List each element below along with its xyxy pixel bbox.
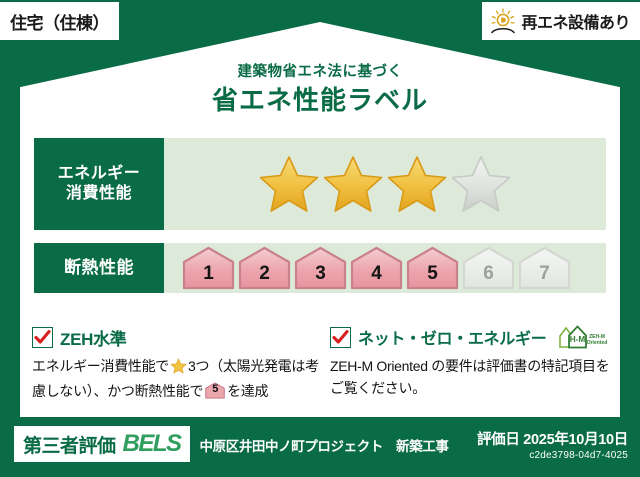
grade-number: 5 bbox=[427, 263, 438, 290]
insulation-grade-3: 3 bbox=[294, 246, 347, 290]
insulation-label-text: 断熱性能 bbox=[64, 257, 134, 279]
insulation-grade-7: 7 bbox=[518, 246, 571, 290]
grade-number: 2 bbox=[259, 263, 270, 290]
star-filled-3 bbox=[386, 154, 448, 214]
star-empty-4 bbox=[450, 154, 512, 214]
insulation-performance-row: 断熱性能 1 2 3 4 5 bbox=[34, 243, 606, 293]
renewable-energy-label: 再エネ設備あり bbox=[521, 9, 630, 33]
star-filled-1 bbox=[258, 154, 320, 214]
inline-house-number: 5 bbox=[205, 382, 225, 399]
grade-number: 6 bbox=[483, 263, 494, 290]
inline-star-icon bbox=[170, 361, 187, 377]
bels-logo-text: BELS bbox=[123, 430, 181, 458]
evaluation-info: 評価日 2025年10月10日 c2de3798-04d7-4025 bbox=[477, 428, 628, 461]
energy-label-line2: 消費性能 bbox=[66, 184, 132, 204]
bels-japanese-label: 第三者評価 bbox=[23, 431, 116, 458]
inline-house-badge-icon: 5 bbox=[205, 382, 225, 399]
zeh-standard-description: エネルギー消費性能で3つ（太陽光発電は考慮しない）、かつ断熱性能で5を達成 bbox=[32, 356, 332, 402]
zeh-standard-checkbox[interactable] bbox=[32, 327, 53, 348]
zeh-desc-part3: を達成 bbox=[227, 383, 268, 399]
net-zero-energy-checkbox[interactable] bbox=[330, 327, 351, 348]
insulation-grade-2: 2 bbox=[238, 246, 291, 290]
zeh-standard-title: ZEH水準 bbox=[60, 325, 127, 350]
net-zero-energy-header: ネット・ゼロ・エネルギー H-M ZEH-M Oriented bbox=[330, 325, 622, 349]
energy-label-line1: エネルギー bbox=[58, 164, 141, 184]
net-zero-energy-description: ZEH-M Oriented の要件は評価書の特記項目をご覧ください。 bbox=[330, 356, 622, 399]
building-type-badge: 住宅（住棟） bbox=[0, 2, 119, 40]
building-type-label: 住宅（住棟） bbox=[10, 9, 109, 34]
project-name: 中原区井田中ノ町プロジェクト 新築工事 bbox=[200, 435, 449, 455]
grade-number: 3 bbox=[315, 263, 326, 290]
zeh-m-oriented-logo-icon: H-M ZEH-M Oriented bbox=[556, 323, 612, 351]
zeh-desc-part1: エネルギー消費性能で bbox=[32, 358, 169, 374]
insulation-grade-4: 4 bbox=[350, 246, 403, 290]
energy-stars-container bbox=[164, 138, 606, 230]
insulation-grade-5: 5 bbox=[406, 246, 459, 290]
insulation-performance-label: 断熱性能 bbox=[34, 243, 164, 293]
svg-text:H-M: H-M bbox=[570, 335, 586, 344]
footer: 第三者評価 BELS 中原区井田中ノ町プロジェクト 新築工事 評価日 2025年… bbox=[0, 423, 640, 477]
zeh-standard-header: ZEH水準 bbox=[32, 325, 332, 349]
page-title: 省エネ性能ラベル bbox=[0, 80, 640, 117]
insulation-grade-6: 6 bbox=[462, 246, 515, 290]
grade-number: 4 bbox=[371, 263, 382, 290]
energy-performance-row: エネルギー 消費性能 bbox=[34, 138, 606, 230]
grade-number: 7 bbox=[539, 263, 550, 290]
grade-number: 1 bbox=[203, 263, 214, 290]
document-id: c2de3798-04d7-4025 bbox=[477, 450, 628, 461]
energy-performance-label: エネルギー 消費性能 bbox=[34, 138, 164, 230]
label-board: 住宅（住棟） 再エネ設備あり 建築物省エネ法に基づく 省エネ性能 bbox=[0, 0, 640, 477]
net-zero-energy-title: ネット・ゼロ・エネルギー bbox=[358, 325, 546, 349]
renewable-energy-badge: 再エネ設備あり bbox=[482, 2, 640, 40]
svg-text:Oriented: Oriented bbox=[587, 340, 608, 346]
net-zero-energy-section: ネット・ゼロ・エネルギー H-M ZEH-M Oriented ZEH-M Or… bbox=[330, 325, 622, 399]
label-subtitle: 建築物省エネ法に基づく bbox=[0, 60, 640, 81]
zeh-standard-section: ZEH水準 エネルギー消費性能で3つ（太陽光発電は考慮しない）、かつ断熱性能で5… bbox=[32, 325, 332, 402]
insulation-grades-container: 1 2 3 4 5 6 bbox=[164, 243, 606, 293]
sun-renewable-icon bbox=[488, 7, 518, 35]
insulation-grade-1: 1 bbox=[182, 246, 235, 290]
star-filled-2 bbox=[322, 154, 384, 214]
bels-certification-badge: 第三者評価 BELS bbox=[14, 426, 190, 462]
evaluation-date: 評価日 2025年10月10日 bbox=[477, 428, 628, 449]
